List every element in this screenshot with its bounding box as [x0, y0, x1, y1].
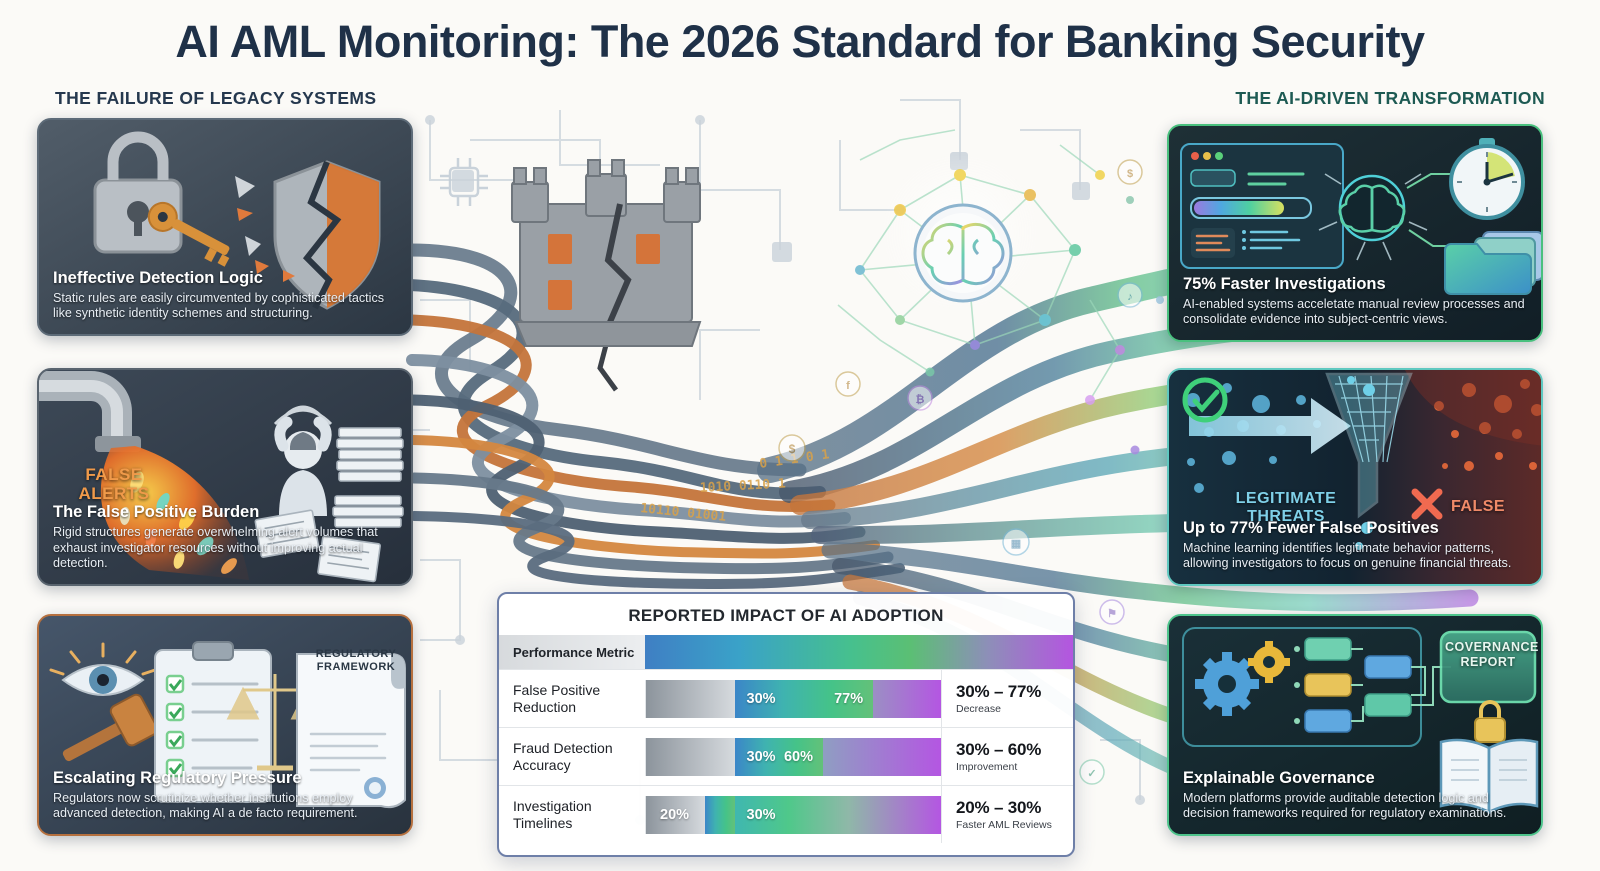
- card-body: Modern platforms provide auditable detec…: [1183, 791, 1527, 822]
- row-bar: 20% 30%: [645, 796, 941, 834]
- bar-segment-lead: [646, 738, 735, 776]
- card-caption: Ineffective Detection Logic Static rules…: [39, 261, 411, 334]
- card-faster-investigations[interactable]: 75% Faster Investigations AI-enabled sys…: [1167, 124, 1543, 342]
- bar-low-label: 30%: [735, 691, 776, 707]
- card-body: Machine learning identifies legitimate b…: [1183, 541, 1527, 572]
- metric-line1: False Positive: [513, 682, 645, 699]
- metric-line1: Fraud Detection: [513, 740, 645, 757]
- table-row[interactable]: False Positive Reduction 30% 77% 30% – 7…: [499, 669, 1073, 727]
- row-value: 30% – 60% Improvement: [941, 728, 1073, 785]
- impact-chart-panel: REPORTED IMPACT OF AI ADOPTION Performan…: [497, 592, 1075, 857]
- svg-text:♪: ♪: [1127, 291, 1133, 303]
- bar-low-label: 30%: [735, 749, 776, 765]
- regulatory-framework-chip: REGULATORY FRAMEWORK: [307, 648, 405, 673]
- bar-segment-tail: [823, 738, 941, 776]
- card-heading: Up to 77% Fewer False Positives: [1183, 519, 1527, 538]
- bar-segment-range: [705, 796, 735, 834]
- card-heading: 75% Faster Investigations: [1183, 275, 1527, 294]
- card-body: Regulators now scrutinize whether instit…: [53, 791, 397, 822]
- bar-high-label: 77%: [834, 691, 863, 707]
- regulatory-framework-line2: FRAMEWORK: [307, 661, 405, 674]
- metric-line2: Timelines: [513, 815, 645, 832]
- bar-segment-lead: 20%: [646, 796, 705, 834]
- card-caption: Up to 77% Fewer False Positives Machine …: [1169, 511, 1541, 584]
- row-metric-label: False Positive Reduction: [499, 682, 645, 715]
- metric-line1: Investigation: [513, 798, 645, 815]
- table-row[interactable]: Fraud Detection Accuracy 30% 60% 30% – 6…: [499, 727, 1073, 785]
- column-header-metric: Performance Metric: [499, 635, 645, 669]
- bar-segment-range: 30% 60%: [735, 738, 824, 776]
- governance-report-line1: COVERNANCE: [1445, 640, 1531, 655]
- row-value-sub: Decrease: [956, 703, 1073, 715]
- bar-segment-lead: [646, 680, 735, 718]
- metric-line2: Accuracy: [513, 757, 645, 774]
- svg-text:$: $: [789, 442, 796, 456]
- card-caption: Escalating Regulatory Pressure Regulator…: [39, 761, 411, 834]
- bar-low-label: 20%: [646, 807, 689, 823]
- section-heading-ai: THE AI-DRIVEN TRANSFORMATION: [1235, 88, 1545, 109]
- svg-text:f: f: [846, 380, 850, 392]
- card-heading: Explainable Governance: [1183, 769, 1527, 788]
- page-title: AI AML Monitoring: The 2026 Standard for…: [0, 16, 1600, 68]
- regulatory-framework-line1: REGULATORY: [307, 648, 405, 661]
- governance-report-line2: REPORT: [1445, 655, 1531, 670]
- card-body: AI-enabled systems acceletate manual rev…: [1183, 297, 1527, 328]
- svg-text:⚑: ⚑: [1107, 608, 1117, 620]
- row-value-sub: Improvement: [956, 761, 1073, 773]
- svg-text:₿: ₿: [916, 394, 925, 406]
- card-body: Static rules are easily circumvented by …: [53, 291, 397, 322]
- card-false-positive-burden[interactable]: FALSE ALERTS The False Positive Burden R…: [37, 368, 413, 586]
- row-value-range: 30% – 77%: [956, 682, 1073, 702]
- row-metric-label: Investigation Timelines: [499, 798, 645, 831]
- row-value-sub: Faster AML Reviews: [956, 819, 1073, 831]
- chart-header-row: Performance Metric: [499, 635, 1073, 669]
- row-bar: 30% 77%: [645, 680, 941, 718]
- card-caption: Explainable Governance Modern platforms …: [1169, 761, 1541, 834]
- gradient-scale-bar: [645, 635, 1073, 669]
- row-metric-label: Fraud Detection Accuracy: [499, 740, 645, 773]
- bar-segment-tail: [873, 680, 941, 718]
- card-ineffective-detection-logic[interactable]: Ineffective Detection Logic Static rules…: [37, 118, 413, 336]
- card-heading: Escalating Regulatory Pressure: [53, 769, 397, 788]
- bar-segment-tail: 30%: [735, 796, 942, 834]
- svg-text:✓: ✓: [1087, 768, 1096, 780]
- browser-window-icon: [1181, 144, 1343, 268]
- card-heading: The False Positive Burden: [53, 503, 397, 522]
- section-heading-legacy: THE FAILURE OF LEGACY SYSTEMS: [55, 88, 376, 109]
- card-fewer-false-positives[interactable]: LEGITIMATE THREATS FALSE Up to 77% Fewer…: [1167, 368, 1543, 586]
- card-body: Rigid structures generate overwhelming a…: [53, 525, 397, 572]
- card-explainable-governance[interactable]: COVERNANCE REPORT Explainable Governance…: [1167, 614, 1543, 836]
- row-value-range: 30% – 60%: [956, 740, 1073, 760]
- chart-title: REPORTED IMPACT OF AI ADOPTION: [499, 594, 1073, 635]
- table-row[interactable]: Investigation Timelines 20% 30% 20% – 30…: [499, 785, 1073, 843]
- svg-text:$: $: [1127, 168, 1133, 180]
- row-value: 30% – 77% Decrease: [941, 670, 1073, 727]
- card-heading: Ineffective Detection Logic: [53, 269, 397, 288]
- legitimate-threats-line1: LEGITIMATE: [1191, 490, 1381, 508]
- card-escalating-regulatory-pressure[interactable]: REGULATORY FRAMEWORK Escalating Regulato…: [37, 614, 413, 836]
- card-caption: The False Positive Burden Rigid structur…: [39, 495, 411, 584]
- card-caption: 75% Faster Investigations AI-enabled sys…: [1169, 267, 1541, 340]
- svg-text:▦: ▦: [1011, 538, 1021, 550]
- row-bar: 30% 60%: [645, 738, 941, 776]
- bar-high-label: 60%: [784, 749, 813, 765]
- infographic-root: 10110 01001 1010 0110 1 0 1 1 0 1: [0, 0, 1600, 871]
- metric-line2: Reduction: [513, 699, 645, 716]
- bar-segment-range: 30% 77%: [735, 680, 874, 718]
- bar-high-label: 30%: [735, 807, 776, 823]
- row-value-range: 20% – 30%: [956, 798, 1073, 818]
- row-value: 20% – 30% Faster AML Reviews: [941, 786, 1073, 843]
- false-alerts-line1: FALSE: [59, 465, 169, 484]
- governance-report-chip: COVERNANCE REPORT: [1445, 640, 1531, 670]
